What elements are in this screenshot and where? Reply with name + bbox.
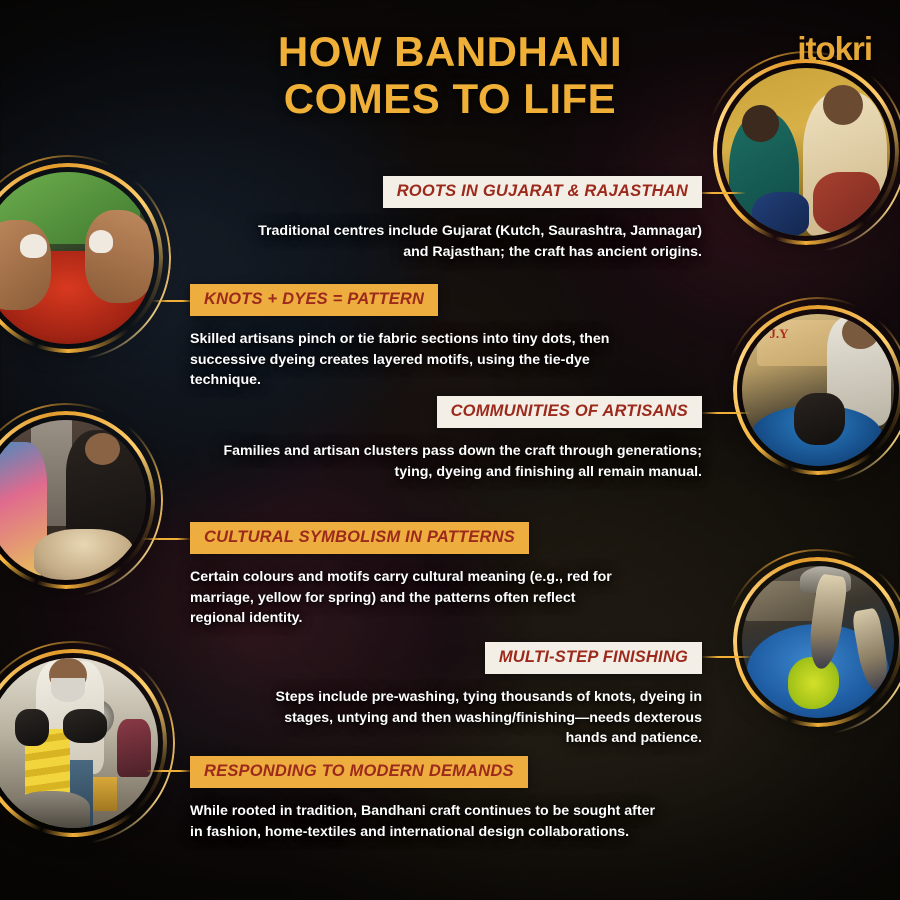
title-line-1: HOW BANDHANI [180,28,720,75]
infographic-poster: HOW BANDHANI COMES TO LIFE itokri [0,0,900,900]
block-tag-finishing: MULTI-STEP FINISHING [485,642,702,674]
block-tag-roots: ROOTS IN GUJARAT & RAJASTHAN [383,176,702,208]
block-body-modern: While rooted in tradition, Bandhani craf… [190,801,660,842]
photo-image-hands-tying-red [0,172,154,344]
connector-line-finishing [700,656,752,658]
block-tag-communities: COMMUNITIES OF ARTISANS [437,396,702,428]
content-block-modern: RESPONDING TO MODERN DEMANDS While roote… [190,756,660,842]
block-tag-symbolism: CULTURAL SYMBOLISM IN PATTERNS [190,522,529,554]
photo-dyer-blue-tub: J.Y [742,314,894,466]
block-body-knots: Skilled artisans pinch or tie fabric sec… [190,329,662,391]
block-tag-modern: RESPONDING TO MODERN DEMANDS [190,756,528,788]
content-block-finishing: MULTI-STEP FINISHING Steps include pre-w… [262,642,702,749]
connector-line-modern [146,770,194,772]
photo-women-knot-tying [0,420,146,580]
block-body-symbolism: Certain colours and motifs carry cultura… [190,567,620,629]
block-tag-knots: KNOTS + DYES = PATTERN [190,284,438,316]
block-body-communities: Families and artisan clusters pass down … [206,441,702,482]
connector-line-symbolism [142,538,192,540]
photo-image-women-tying-saree [722,68,890,236]
block-body-finishing: Steps include pre-washing, tying thousan… [262,687,702,749]
content-block-communities: COMMUNITIES OF ARTISANS Families and art… [206,396,702,482]
photo-blue-vat-yellow-dye [742,566,894,718]
photo-image-women-knot-tying [0,420,146,580]
content-block-symbolism: CULTURAL SYMBOLISM IN PATTERNS Certain c… [190,522,620,629]
photo-man-lifting-yellow [0,658,158,828]
photo-image-man-lifting-yellow [0,658,158,828]
block-body-roots: Traditional centres include Gujarat (Kut… [240,221,702,262]
connector-line-communities [700,412,750,414]
content-block-roots: ROOTS IN GUJARAT & RAJASTHAN Traditional… [240,176,702,262]
photo-women-tying-saree [722,68,890,236]
itokri-logo[interactable]: itokri [797,30,872,68]
title-line-2: COMES TO LIFE [180,75,720,122]
photo-hands-tying-red [0,172,154,344]
photo-image-dyer-blue-tub: J.Y [742,314,894,466]
photo-image-blue-vat-yellow-dye [742,566,894,718]
content-block-knots: KNOTS + DYES = PATTERN Skilled artisans … [190,284,662,391]
